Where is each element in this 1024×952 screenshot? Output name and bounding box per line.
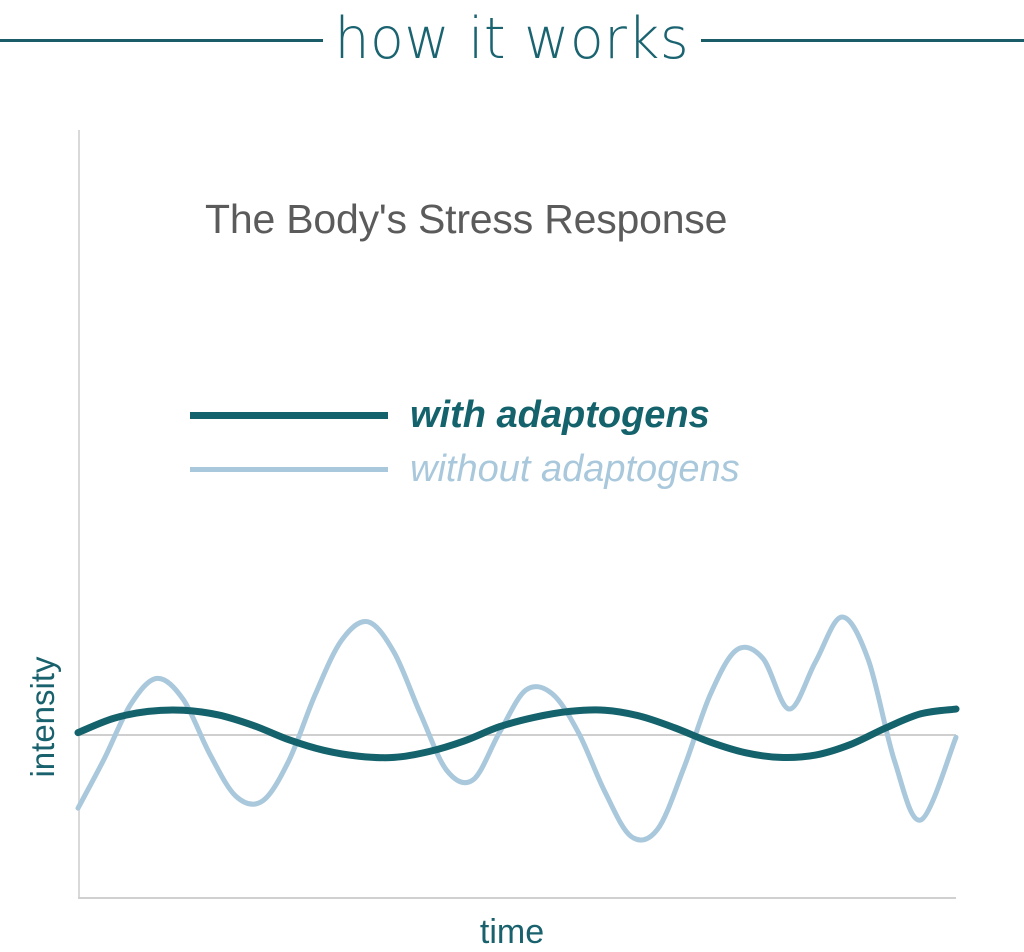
waveform-plot <box>0 78 1024 947</box>
wave-without-adaptogens <box>78 617 956 840</box>
header-rule-right <box>701 39 1024 42</box>
page-header: how it works <box>0 0 1024 78</box>
x-axis-label: time <box>0 913 1024 952</box>
y-axis-label: intensity <box>24 637 62 797</box>
page-title: how it works <box>329 11 695 68</box>
stress-response-chart: The Body's Stress Response with adaptoge… <box>0 78 1024 947</box>
header-rule-left <box>0 39 323 42</box>
